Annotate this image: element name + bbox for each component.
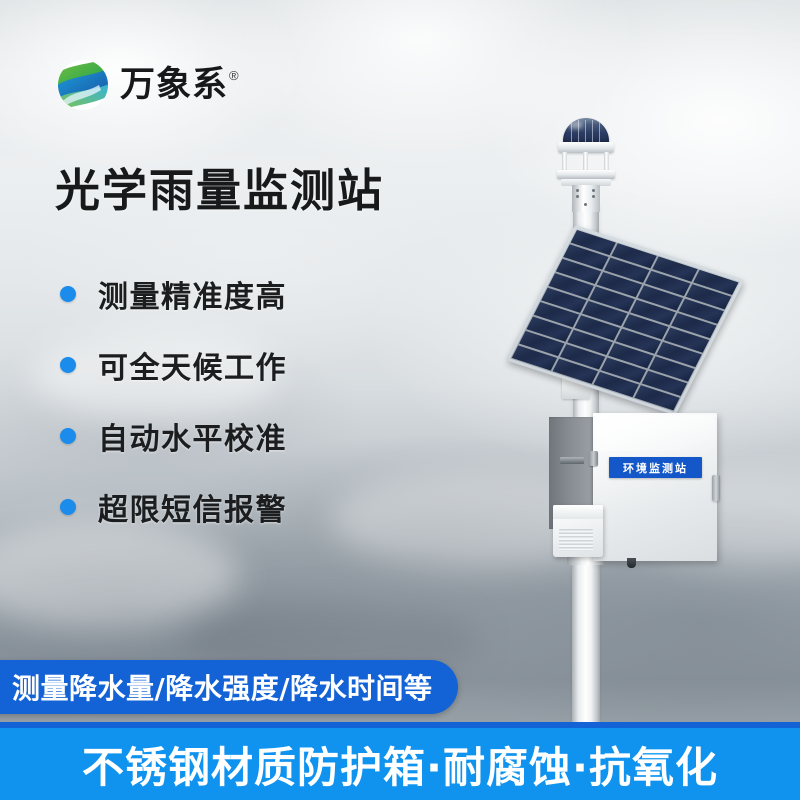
sensor-pillar-icon bbox=[562, 152, 567, 172]
cabinet-latch-icon bbox=[712, 475, 720, 501]
bullet-dot-icon bbox=[60, 357, 76, 373]
feature-label: 测量精准度高 bbox=[98, 272, 287, 316]
list-item: 超限短信报警 bbox=[60, 471, 287, 542]
product-banner: 环境监测站 bbox=[0, 0, 800, 800]
solar-panel-icon bbox=[560, 215, 770, 405]
bullet-dot-icon bbox=[60, 428, 76, 444]
registered-trademark-icon: ® bbox=[229, 68, 239, 83]
list-item: 自动水平校准 bbox=[60, 400, 287, 471]
measurement-pill-banner: 测量降水量/降水强度/降水时间等 bbox=[0, 660, 458, 714]
bottom-bar-text: 不锈钢材质防护箱·耐腐蚀·抗氧化 bbox=[82, 734, 718, 795]
brand-name: 万象系 bbox=[120, 68, 228, 103]
cabinet-label-text: 环境监测站 bbox=[623, 460, 688, 476]
ventilation-louvers-icon bbox=[559, 529, 593, 551]
cabinet-gloss-highlight bbox=[595, 415, 715, 451]
feature-label: 可全天候工作 bbox=[98, 343, 287, 387]
sensor-mid-ring-icon bbox=[557, 170, 615, 179]
brand-logo: 万象系 ® bbox=[55, 57, 239, 113]
globe-swirl-logo-icon bbox=[55, 57, 111, 113]
mounting-pole-lower-icon bbox=[572, 560, 600, 722]
bullet-dot-icon bbox=[60, 286, 76, 302]
bottom-feature-bar: 不锈钢材质防护箱·耐腐蚀·抗氧化 bbox=[0, 728, 800, 800]
page-title: 光学雨量监测站 bbox=[55, 167, 384, 214]
feature-label: 自动水平校准 bbox=[98, 414, 287, 458]
cabinet-nameplate: 环境监测站 bbox=[609, 457, 702, 478]
sensor-neck-icon bbox=[572, 185, 600, 212]
sensor-pillar-icon bbox=[604, 152, 609, 172]
optical-rain-sensor-icon bbox=[546, 118, 626, 210]
cabinet-side-vent-icon bbox=[560, 457, 584, 464]
equipment-cabinet-icon: 环境监测站 bbox=[549, 413, 717, 565]
bullet-dot-icon bbox=[60, 499, 76, 515]
cabinet-bottom-bolt-icon bbox=[627, 558, 636, 568]
sensor-dome-icon bbox=[563, 118, 609, 144]
ventilation-box-cap bbox=[553, 505, 603, 519]
pill-banner-text: 测量降水量/降水强度/降水时间等 bbox=[12, 667, 432, 707]
list-item: 测量精准度高 bbox=[60, 258, 287, 329]
feature-label: 超限短信报警 bbox=[98, 485, 287, 529]
cabinet-hinge-icon bbox=[589, 451, 598, 466]
feature-list: 测量精准度高 可全天候工作 自动水平校准 超限短信报警 bbox=[60, 258, 287, 542]
list-item: 可全天候工作 bbox=[60, 329, 287, 400]
sensor-pillar-icon bbox=[583, 152, 588, 172]
